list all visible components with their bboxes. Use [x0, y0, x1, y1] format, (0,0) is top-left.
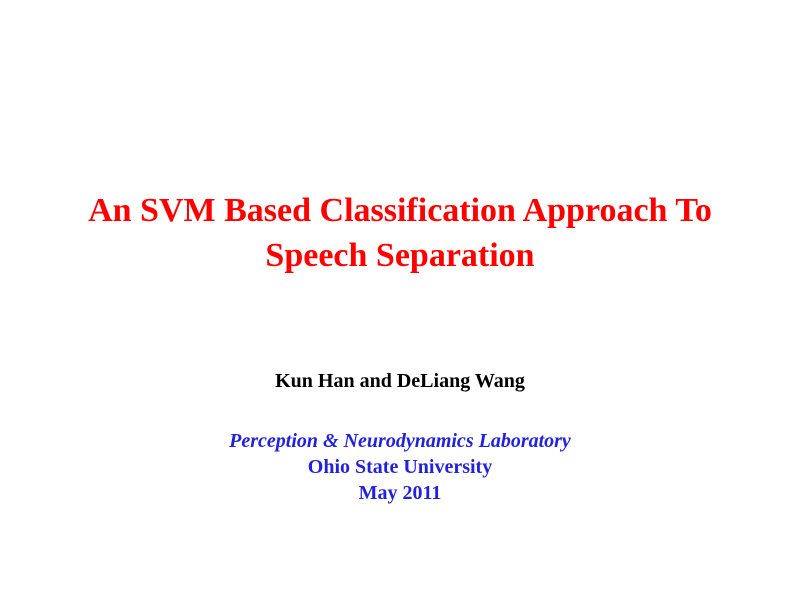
author-names: Kun Han and DeLiang Wang [0, 369, 800, 394]
title-line-1: An SVM Based Classification Approach To [0, 188, 800, 233]
affiliation-laboratory: Perception & Neurodynamics Laboratory [0, 428, 800, 454]
title-line-2: Speech Separation [0, 233, 800, 278]
slide-title: An SVM Based Classification Approach To … [0, 188, 800, 278]
author-block: Kun Han and DeLiang Wang [0, 369, 800, 394]
title-slide: An SVM Based Classification Approach To … [0, 0, 800, 599]
affiliation-date: May 2011 [0, 480, 800, 506]
affiliation-organization: Ohio State University [0, 454, 800, 480]
affiliation-block: Perception & Neurodynamics Laboratory Oh… [0, 428, 800, 506]
